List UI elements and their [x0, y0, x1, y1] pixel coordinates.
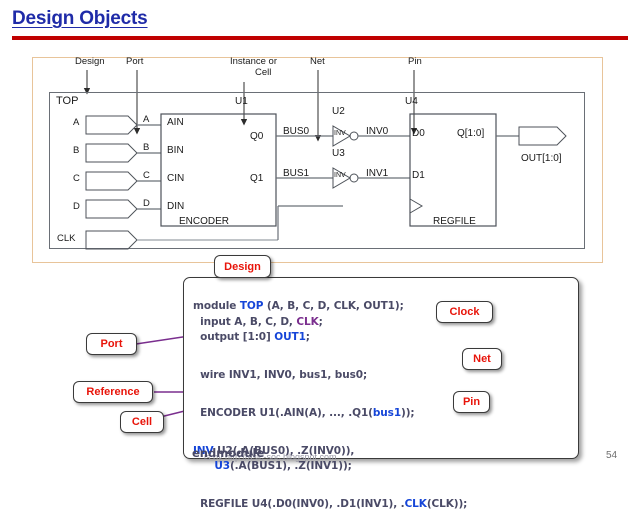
- code-gap-3: [193, 421, 577, 428]
- diagram-wires: [33, 106, 604, 251]
- cell-pin-q0: Q0: [250, 131, 263, 142]
- callout-net[interactable]: Net: [462, 348, 502, 370]
- callout-reference[interactable]: Reference: [73, 381, 153, 403]
- code-line-5: ENCODER U1(.AIN(A), ..., .Q1(bus1));: [193, 407, 415, 419]
- cell-pin-cin: CIN: [167, 173, 184, 184]
- page-title: Design Objects: [12, 8, 148, 30]
- net-label-bus0: BUS0: [283, 126, 309, 137]
- annotation-instance-label: Instance or: [230, 57, 277, 67]
- net-label-c: C: [143, 171, 150, 181]
- cell-pin-q1: Q1: [250, 173, 263, 184]
- cell-reference-encoder: ENCODER: [179, 216, 229, 227]
- port-label-b: B: [73, 146, 79, 156]
- instance-label-u4: U4: [405, 96, 418, 107]
- code-gap-4: [193, 474, 577, 481]
- title-underline-rule: [12, 36, 628, 40]
- cell-reference-inv-u3: INV: [334, 172, 346, 180]
- callout-design[interactable]: Design: [214, 255, 271, 278]
- port-label-out: OUT[1:0]: [521, 153, 562, 164]
- net-label-bus1: BUS1: [283, 168, 309, 179]
- code-line-2: input A, B, C, D, CLK;: [193, 316, 323, 328]
- code-line-4: wire INV1, INV0, bus1, bus0;: [193, 369, 367, 381]
- cell-pin-din: DIN: [167, 201, 184, 212]
- code-gap-1: [193, 346, 577, 353]
- page-number: 54: [606, 450, 617, 461]
- annotation-port-label: Port: [126, 57, 143, 67]
- cell-pin-q-bus: Q[1:0]: [457, 128, 484, 139]
- port-label-d: D: [73, 202, 80, 212]
- callout-cell[interactable]: Cell: [120, 411, 164, 433]
- code-line-8: REGFILE U4(.D0(INV0), .D1(INV1), .CLK(CL…: [193, 498, 467, 510]
- instance-label-u3: U3: [332, 148, 345, 159]
- callout-port[interactable]: Port: [86, 333, 137, 355]
- code-line-3: output [1:0] OUT1;: [193, 331, 310, 343]
- cell-reference-inv-u2: INV: [334, 130, 346, 138]
- annotation-net-label: Net: [310, 57, 325, 67]
- port-label-clk: CLK: [57, 234, 75, 244]
- net-label-inv0: INV0: [366, 126, 388, 137]
- annotation-pin-label: Pin: [408, 57, 422, 67]
- cell-pin-ain: AIN: [167, 117, 184, 128]
- verilog-code-panel: module TOP (A, B, C, D, CLK, OUT1); inpu…: [183, 277, 579, 459]
- net-label-b: B: [143, 143, 149, 153]
- net-label-d: D: [143, 199, 150, 209]
- callout-clock[interactable]: Clock: [436, 301, 493, 323]
- net-label-a: A: [143, 115, 149, 125]
- port-label-c: C: [73, 174, 80, 184]
- callout-pin[interactable]: Pin: [453, 391, 490, 413]
- cell-pin-d1: D1: [412, 170, 425, 181]
- cell-pin-bin: BIN: [167, 145, 184, 156]
- net-label-inv1: INV1: [366, 168, 388, 179]
- instance-label-u2: U2: [332, 106, 345, 117]
- diagram-panel: Design Port Instance or Cell Net Pin TOP: [32, 57, 603, 263]
- cell-pin-d0: D0: [412, 128, 425, 139]
- verilog-code-text: module TOP (A, B, C, D, CLK, OUT1); inpu…: [193, 284, 577, 528]
- annotation-design-label: Design: [75, 57, 105, 67]
- instance-label-u1: U1: [235, 96, 248, 107]
- code-line-1: module TOP (A, B, C, D, CLK, OUT1);: [193, 300, 404, 312]
- code-line-endmodule: endmodule: [192, 446, 264, 460]
- code-gap-2: [193, 383, 577, 390]
- cell-reference-regfile: REGFILE: [433, 216, 476, 227]
- port-label-a: A: [73, 118, 79, 128]
